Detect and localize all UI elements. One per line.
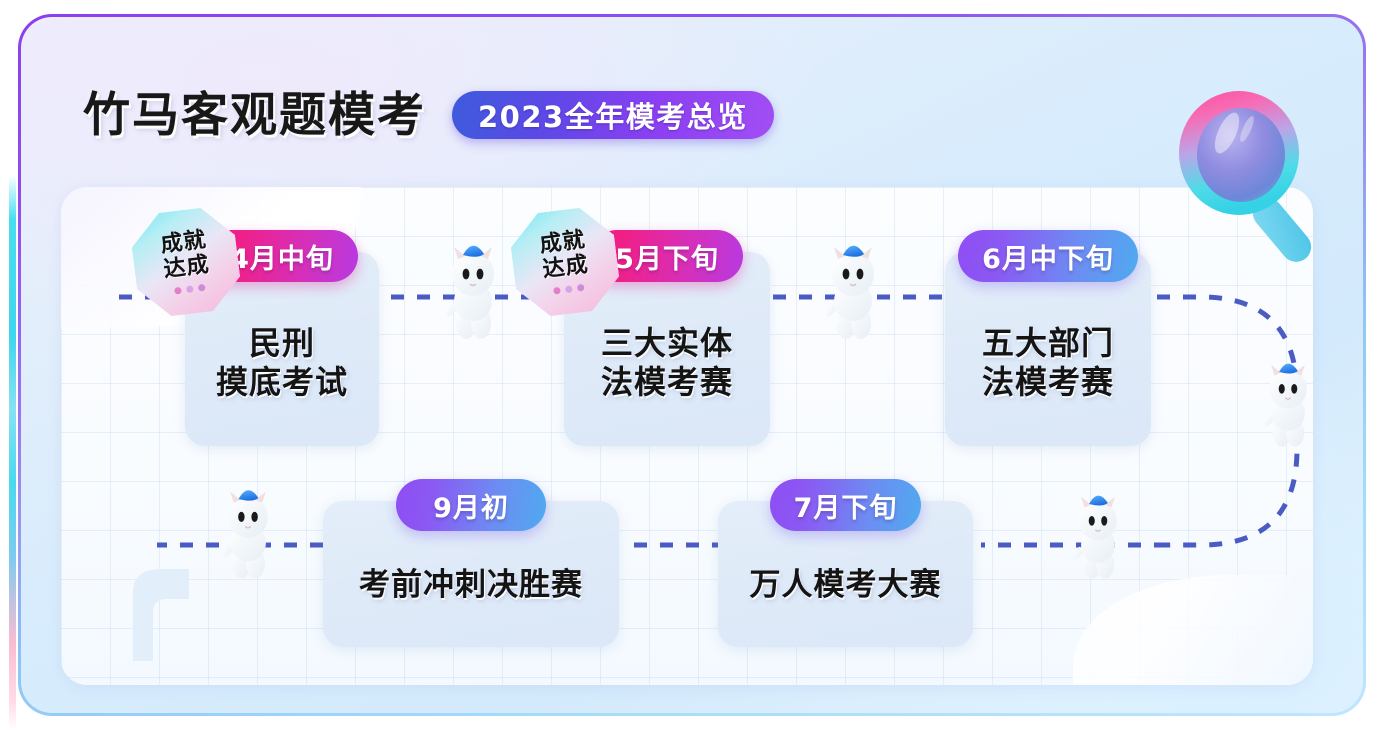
achievement-badge-2-line-2: 达成: [541, 253, 590, 283]
timeline-title-1-line-1: 民刑: [216, 324, 348, 363]
timeline-title-3: 五大部门 法模考赛: [982, 324, 1114, 402]
timeline-title-3-line-1: 五大部门: [982, 324, 1114, 363]
timeline-title-1-line-2: 摸底考试: [216, 363, 348, 402]
quote-mark-decoration: [123, 565, 197, 661]
horse-mascot-icon: [213, 483, 283, 583]
timeline-title-2-line-1: 三大实体: [601, 324, 733, 363]
timeline-title-3-line-2: 法模考赛: [982, 363, 1114, 402]
timeline-card-4[interactable]: 7月下旬 万人模考大赛: [718, 501, 973, 647]
timeline-title-4: 万人模考大赛: [750, 567, 942, 605]
timeline-pill-5: 9月初: [396, 479, 546, 531]
header: 竹马客观题模考 2023全年模考总览: [83, 91, 774, 139]
timeline-title-4-line-1: 万人模考大赛: [750, 567, 942, 605]
timeline-title-1: 民刑 摸底考试: [216, 324, 348, 402]
horse-mascot-icon: [436, 239, 510, 343]
timeline-card-3[interactable]: 6月中下旬 五大部门 法模考赛: [945, 252, 1151, 446]
poster-frame: 竹马客观题模考 2023全年模考总览: [18, 14, 1366, 716]
horse-mascot-icon: [1065, 489, 1131, 583]
horse-mascot-icon: [1255, 357, 1321, 451]
magnifying-glass-icon: [1165, 81, 1349, 277]
left-edge-mask: [0, 0, 9, 730]
page-title: 竹马客观题模考: [83, 92, 426, 139]
header-badge: 2023全年模考总览: [452, 91, 774, 139]
timeline-title-2: 三大实体 法模考赛: [601, 324, 733, 402]
achievement-badge-1-line-2: 达成: [162, 253, 211, 283]
timeline-pill-4: 7月下旬: [770, 479, 922, 531]
achievement-dots-1: [173, 284, 205, 295]
timeline-title-2-line-2: 法模考赛: [601, 363, 733, 402]
achievement-dots-2: [552, 284, 584, 295]
poster-background: 竹马客观题模考 2023全年模考总览: [21, 17, 1363, 713]
timeline-card-5[interactable]: 9月初 考前冲刺决胜赛: [323, 501, 619, 647]
timeline-title-5-line-1: 考前冲刺决胜赛: [359, 567, 583, 605]
timeline-pill-3: 6月中下旬: [958, 230, 1138, 282]
timeline-title-5: 考前冲刺决胜赛: [359, 567, 583, 605]
horse-mascot-icon: [816, 239, 890, 343]
